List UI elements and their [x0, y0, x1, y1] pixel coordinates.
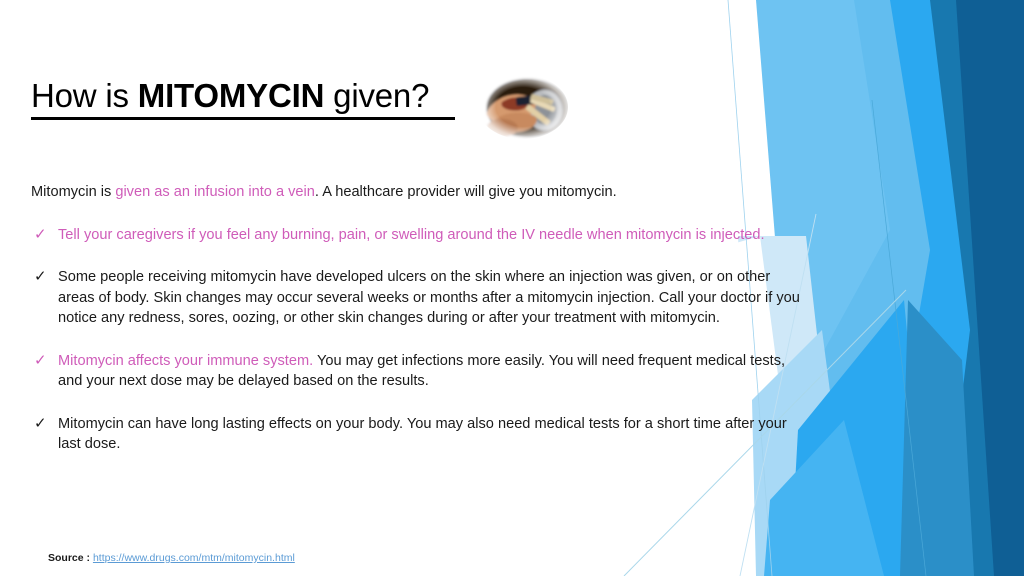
checkmark-icon: ✓: [34, 267, 47, 288]
source-line: Source : https://www.drugs.com/mtm/mitom…: [48, 551, 295, 565]
syringe-vial-photo: [472, 72, 574, 142]
list-item-text: Mitomycin can have long lasting effects …: [58, 416, 787, 453]
page-title: How is MITOMYCIN given?: [31, 76, 501, 116]
facet-shape-azure-bottom: [790, 300, 930, 576]
source-label: Source :: [48, 552, 93, 564]
title-underline-rule: [31, 117, 455, 120]
facet-shape-dark-base: [890, 0, 1024, 576]
facet-shape-azure: [806, 0, 970, 576]
facet-shape-deep-right: [952, 0, 1024, 576]
list-item: ✓ Mitomycin can have long lasting effect…: [31, 414, 803, 455]
intro-tail: . A healthcare provider will give you mi…: [315, 184, 617, 200]
list-item-text: Tell your caregivers if you feel any bur…: [58, 227, 765, 243]
title-suffix: given?: [324, 77, 429, 114]
list-item-pink-text: Tell your caregivers if you feel any bur…: [58, 227, 765, 243]
slide-title-text: How is MITOMYCIN given?: [31, 76, 501, 116]
list-item-black-text: Some people receiving mitomycin have dev…: [58, 269, 800, 326]
intro-lead: Mitomycin is: [31, 184, 115, 200]
facet-shape-mid-bottom: [900, 300, 974, 576]
intro-paragraph: Mitomycin is given as an infusion into a…: [31, 182, 803, 203]
checkmark-icon: ✓: [34, 351, 47, 372]
list-item-pink-text: Mitomycin affects your immune system.: [58, 353, 317, 369]
list-item: ✓ Mitomycin affects your immune system. …: [31, 351, 803, 392]
body-content: Mitomycin is given as an infusion into a…: [31, 182, 803, 455]
list-item-black-text: Mitomycin can have long lasting effects …: [58, 416, 787, 453]
list-item-text: Mitomycin affects your immune system. Yo…: [58, 353, 785, 390]
slide-canvas: How is MITOMYCIN given?: [0, 0, 1024, 576]
intro-highlight: given as an infusion into a vein: [115, 184, 315, 200]
list-item: ✓ Tell your caregivers if you feel any b…: [31, 225, 803, 246]
title-prefix: How is: [31, 77, 138, 114]
list-item: ✓ Some people receiving mitomycin have d…: [31, 267, 803, 329]
checkmark-icon: ✓: [34, 414, 47, 435]
facet-hairline-2: [872, 100, 926, 576]
checkmark-icon: ✓: [34, 225, 47, 246]
source-link[interactable]: https://www.drugs.com/mtm/mitomycin.html: [93, 552, 295, 564]
title-emphasis: MITOMYCIN: [138, 77, 324, 114]
facet-shape-mid-wedge: [860, 0, 994, 576]
list-item-text: Some people receiving mitomycin have dev…: [58, 269, 800, 326]
